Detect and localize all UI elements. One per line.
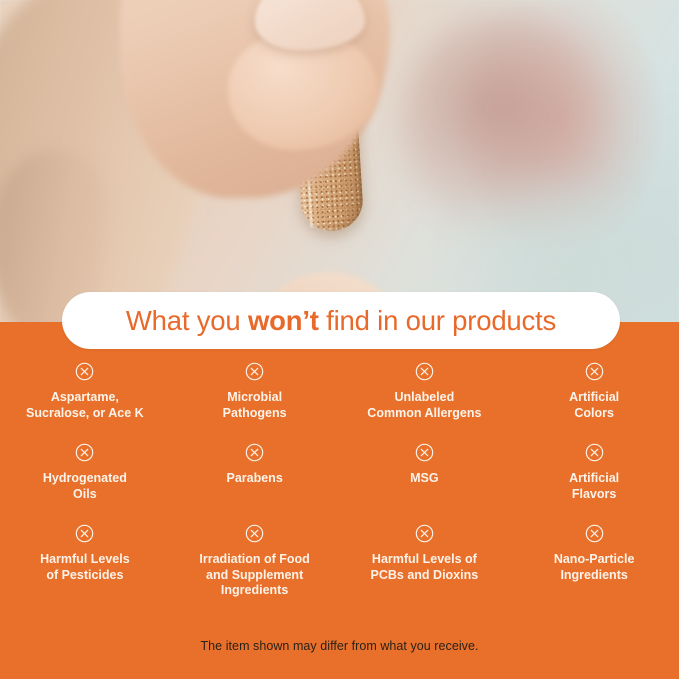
circle-x-icon: [75, 524, 94, 543]
excluded-item-label: MSG: [410, 471, 438, 487]
excluded-item-label: Harmful Levels of Pesticides: [40, 552, 130, 583]
excluded-item: Harmful Levels of Pesticides: [0, 524, 170, 599]
product-photo: [0, 0, 679, 322]
product-infographic: What you won’t find in our products Aspa…: [0, 0, 679, 679]
circle-x-icon: [415, 443, 434, 462]
excluded-item-label: Nano-Particle Ingredients: [554, 552, 635, 583]
circle-x-icon: [245, 362, 264, 381]
headline-after: find in our products: [319, 305, 556, 336]
circle-x-icon: [415, 524, 434, 543]
headline-banner: What you won’t find in our products: [62, 292, 620, 349]
excluded-item: MSG: [340, 443, 510, 502]
excluded-item-label: Parabens: [226, 471, 282, 487]
circle-x-icon: [585, 524, 604, 543]
excluded-item-label: Harmful Levels of PCBs and Dioxins: [371, 552, 479, 583]
excluded-item-label: Unlabeled Common Allergens: [367, 390, 481, 421]
excluded-item: Harmful Levels of PCBs and Dioxins: [340, 524, 510, 599]
excluded-item: Artificial Colors: [509, 362, 679, 421]
circle-x-icon: [245, 524, 264, 543]
excluded-item-label: Aspartame, Sucralose, or Ace K: [26, 390, 144, 421]
excluded-item: Nano-Particle Ingredients: [509, 524, 679, 599]
circle-x-icon: [585, 443, 604, 462]
excluded-item: Microbial Pathogens: [170, 362, 340, 421]
headline-emphasis: won’t: [248, 305, 319, 336]
circle-x-icon: [245, 443, 264, 462]
excluded-items-grid: Aspartame, Sucralose, or Ace KMicrobial …: [0, 362, 679, 599]
excluded-item: Unlabeled Common Allergens: [340, 362, 510, 421]
excluded-item-label: Artificial Flavors: [569, 471, 619, 502]
circle-x-icon: [415, 362, 434, 381]
disclaimer: The item shown may differ from what you …: [0, 639, 679, 653]
headline-before: What you: [126, 305, 248, 336]
excluded-item: Irradiation of Food and Supplement Ingre…: [170, 524, 340, 599]
excluded-item: Parabens: [170, 443, 340, 502]
excluded-item-label: Artificial Colors: [569, 390, 619, 421]
excluded-item: Aspartame, Sucralose, or Ace K: [0, 362, 170, 421]
excluded-item-label: Microbial Pathogens: [223, 390, 287, 421]
excluded-item: Artificial Flavors: [509, 443, 679, 502]
circle-x-icon: [75, 362, 94, 381]
page-title: What you won’t find in our products: [126, 305, 556, 337]
circle-x-icon: [75, 443, 94, 462]
excluded-item-label: Hydrogenated Oils: [43, 471, 127, 502]
excluded-item-label: Irradiation of Food and Supplement Ingre…: [199, 552, 309, 599]
circle-x-icon: [585, 362, 604, 381]
excluded-item: Hydrogenated Oils: [0, 443, 170, 502]
